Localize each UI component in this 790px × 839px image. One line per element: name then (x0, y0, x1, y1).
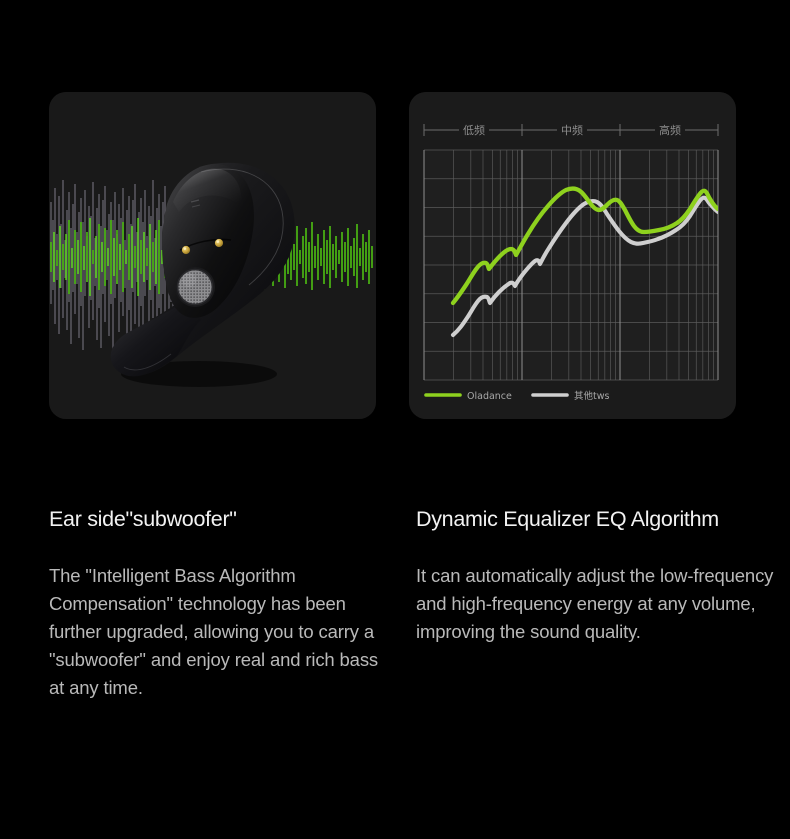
speaker-grille-mesh (178, 270, 211, 303)
band-label-mid: 中频 (561, 123, 583, 137)
charging-contact-pin-right (215, 239, 223, 247)
chart-plot-area (424, 150, 718, 380)
band-label-high: 高频 (659, 123, 681, 137)
product-feature-page: 低频 中频 高频 (0, 0, 790, 839)
charging-contact-pin-left (182, 246, 190, 254)
feature-card-ear-side-subwoofer (49, 92, 376, 419)
earbud-product-image (49, 92, 376, 419)
feature-title-ear-side-subwoofer: Ear side"subwoofer" (49, 506, 394, 532)
feature-text-ear-side-subwoofer: Ear side"subwoofer" The "Intelligent Bas… (49, 430, 394, 702)
feature-text-dynamic-equalizer: Dynamic Equalizer EQ Algorithm It can au… (416, 430, 784, 646)
feature-text-columns: Ear side"subwoofer" The "Intelligent Bas… (0, 430, 790, 839)
frequency-response-chart: 低频 中频 高频 (409, 92, 736, 419)
feature-body-text: It can automatically adjust the low-freq… (416, 562, 782, 646)
feature-body-dynamic-equalizer: It can automatically adjust the low-freq… (416, 562, 782, 646)
feature-body-ear-side-subwoofer: The "Intelligent Bass Algorithm Compensa… (49, 562, 391, 702)
feature-body-text: The "Intelligent Bass Algorithm Compensa… (49, 562, 391, 702)
feature-card-dynamic-equalizer: 低频 中频 高频 (409, 92, 736, 419)
legend-label-other-tws: 其他tws (574, 390, 609, 402)
feature-title-dynamic-equalizer: Dynamic Equalizer EQ Algorithm (416, 506, 784, 532)
band-label-low: 低频 (463, 123, 485, 137)
legend-label-oladance: Oladance (467, 391, 512, 402)
feature-cards-row: 低频 中频 高频 (0, 0, 790, 430)
